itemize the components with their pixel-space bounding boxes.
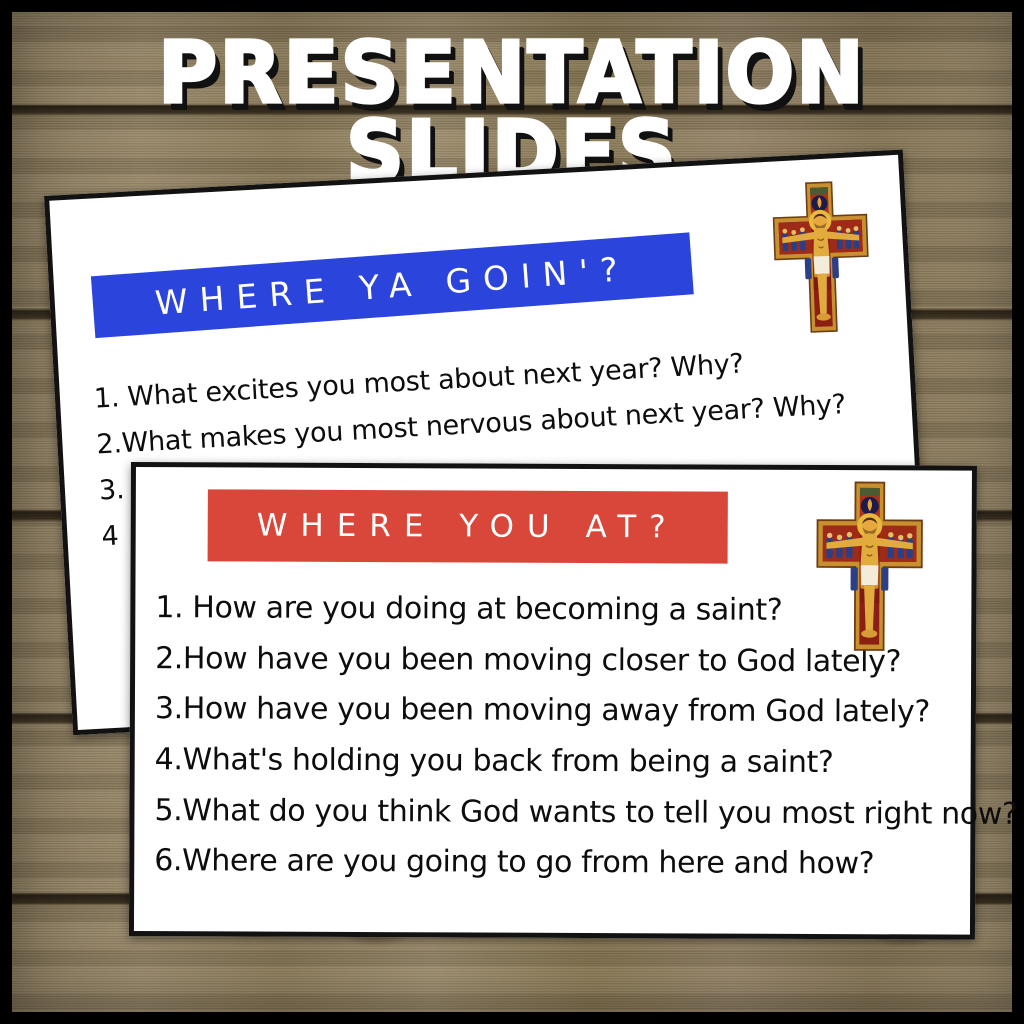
list-item: 4.What's holding you back from being a s… [155,735,1018,789]
san-damiano-crucifix-icon [815,480,924,652]
slide-title-text: WHERE YA GOIN'? [154,248,631,322]
list-item: 3.How have you been moving away from God… [155,684,1018,738]
san-damiano-crucifix-icon [771,179,873,334]
slide-title-text: WHERE YOU AT? [257,508,679,546]
poster-canvas: PRESENTATION SLIDES WHERE YA GOIN'? 1. W… [0,0,1024,1024]
list-item: 5.What do you think God wants to tell yo… [154,786,1017,840]
slide-title-banner-blue: WHERE YA GOIN'? [91,232,694,338]
list-item: 6.Where are you going to go from here an… [154,837,1017,891]
presentation-slide-where-you-at[interactable]: WHERE YOU AT? 1. How are you doing at be… [129,462,977,940]
slide-title-banner-red: WHERE YOU AT? [208,489,728,563]
